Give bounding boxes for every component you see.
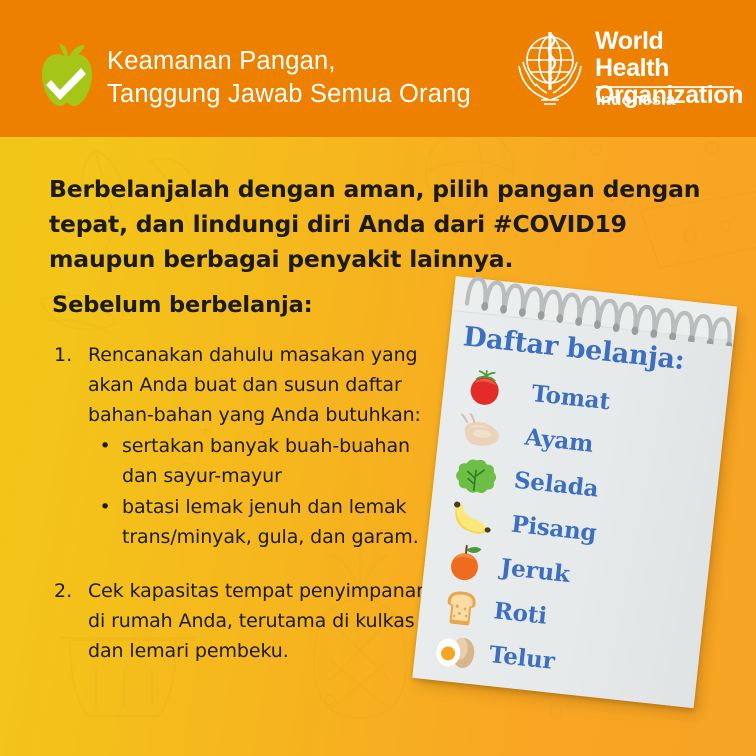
bullet-text: sertakan banyak buah-buahan dan sayur-ma… bbox=[122, 431, 450, 491]
shopping-list-notepad: Daftar belanja: Tomat bbox=[411, 276, 750, 725]
notepad-paper: Daftar belanja: Tomat bbox=[412, 276, 737, 708]
who-country-label: Indonesia bbox=[596, 90, 675, 110]
notepad-item-label: Telur bbox=[486, 640, 556, 674]
notepad-item-label: Jeruk bbox=[495, 553, 571, 588]
banana-icon bbox=[438, 499, 503, 539]
header-title: Keamanan Pangan, Tanggung Jawab Semua Or… bbox=[107, 45, 471, 111]
chicken-icon bbox=[448, 411, 513, 451]
notepad-item-list: Tomat Ayam bbox=[423, 363, 725, 698]
notepad-item-label: Selada bbox=[505, 465, 600, 502]
list-item: • batasi lemak jenuh dan lemak trans/min… bbox=[88, 492, 450, 552]
list-item: 1. Rencanakan dahulu masakan yang akan A… bbox=[50, 340, 450, 552]
bullet-text: batasi lemak jenuh dan lemak trans/minya… bbox=[122, 492, 450, 552]
orange-icon bbox=[433, 540, 499, 586]
step-number: 1. bbox=[50, 340, 88, 552]
list-item: • sertakan banyak buah-buahan dan sayur-… bbox=[88, 431, 450, 491]
step-text: Cek kapasitas tempat penyimpanan di ruma… bbox=[88, 576, 450, 666]
tomato-icon bbox=[452, 366, 518, 410]
steps-list: 1. Rencanakan dahulu masakan yang akan A… bbox=[50, 340, 450, 672]
bullet-glyph: • bbox=[88, 431, 122, 491]
who-emblem-icon bbox=[511, 26, 589, 106]
apple-check-icon bbox=[38, 42, 96, 108]
poster-canvas: Keamanan Pangan, Tanggung Jawab Semua Or… bbox=[0, 0, 756, 756]
notepad-item-label: Roti bbox=[491, 597, 549, 630]
notepad-item-label: Pisang bbox=[500, 509, 598, 546]
bullet-glyph: • bbox=[88, 492, 122, 552]
sub-bullet-list: • sertakan banyak buah-buahan dan sayur-… bbox=[88, 431, 450, 552]
list-item: 2. Cek kapasitas tempat penyimpanan di r… bbox=[50, 576, 450, 666]
section-subheading: Sebelum berbelanja: bbox=[52, 292, 313, 318]
header-bar: Keamanan Pangan, Tanggung Jawab Semua Or… bbox=[0, 0, 756, 137]
lead-paragraph: Berbelanjalah dengan aman, pilih pangan … bbox=[49, 172, 739, 277]
lettuce-icon bbox=[443, 453, 509, 497]
bread-icon bbox=[428, 583, 494, 629]
who-divider bbox=[596, 86, 734, 88]
notepad-item-label: Tomat bbox=[514, 378, 611, 415]
notepad-item-label: Ayam bbox=[510, 422, 595, 458]
egg-icon bbox=[424, 628, 490, 672]
step-number: 2. bbox=[50, 576, 88, 666]
step-text: Rencanakan dahulu masakan yang akan Anda… bbox=[88, 340, 450, 430]
who-logo: World Health Organization Indonesia bbox=[511, 24, 736, 116]
